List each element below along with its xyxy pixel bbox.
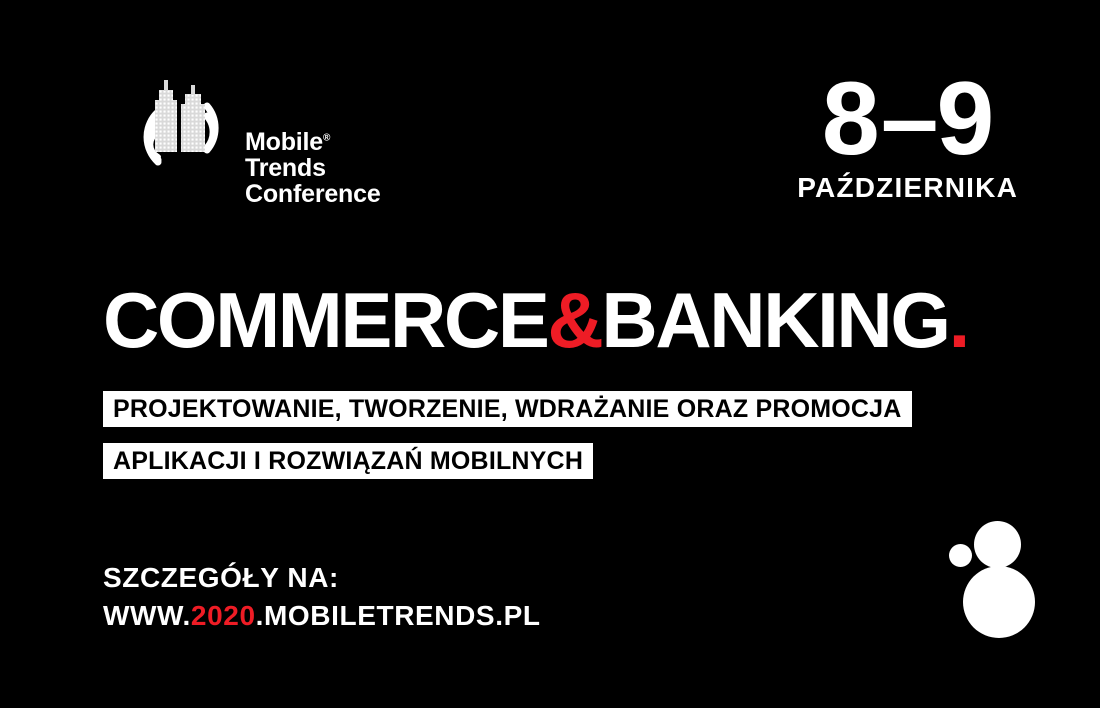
event-date-day-start: 8 — [822, 61, 879, 177]
url-year: 2020 — [191, 600, 256, 631]
date-range-dash-icon: – — [879, 61, 937, 177]
page-title: COMMERCE&BANKING. — [103, 281, 968, 359]
headline-period: . — [949, 276, 968, 364]
decorative-dot-small — [949, 544, 972, 567]
brand-logo-line-3: Conference — [245, 182, 381, 208]
event-date-days: 8–9 — [797, 72, 1018, 168]
headline-part-banking: BANKING — [601, 276, 948, 364]
details-url[interactable]: WWW.2020.MOBILETRENDS.PL — [103, 597, 541, 635]
event-date: 8–9 PAŹDZIERNIKA — [797, 72, 1018, 204]
details-label: SZCZEGÓŁY NA: — [103, 559, 541, 597]
headline-part-commerce: COMMERCE — [103, 276, 547, 364]
brand-logo-line-1: Mobile® — [245, 130, 381, 156]
conference-poster: Mobile® Trends Conference 8–9 PAŹDZIERNI… — [0, 0, 1100, 708]
subtitle-line-1: PROJEKTOWANIE, TWORZENIE, WDRAŻANIE ORAZ… — [103, 391, 912, 427]
decorative-dots — [938, 508, 1058, 626]
brand-logo-text-mobile: Mobile — [245, 128, 323, 156]
headline-ampersand: & — [547, 276, 601, 364]
brand-logo[interactable]: Mobile® Trends Conference — [95, 78, 325, 208]
subtitle-line-2: APLIKACJI I ROZWIĄZAŃ MOBILNYCH — [103, 443, 593, 479]
event-date-day-end: 9 — [937, 61, 994, 177]
details-block: SZCZEGÓŁY NA: WWW.2020.MOBILETRENDS.PL — [103, 559, 541, 635]
url-suffix: .MOBILETRENDS.PL — [256, 600, 541, 631]
brand-logo-line-2: Trends — [245, 156, 381, 182]
decorative-dot-medium — [974, 521, 1021, 568]
decorative-dot-large — [963, 566, 1035, 638]
event-date-month: PAŹDZIERNIKA — [797, 172, 1018, 204]
brand-logo-wordmark: Mobile® Trends Conference — [245, 130, 381, 207]
url-prefix: WWW. — [103, 600, 191, 631]
mobile-trends-signal-buildings-icon — [95, 78, 270, 170]
registered-trademark-icon: ® — [323, 133, 330, 144]
